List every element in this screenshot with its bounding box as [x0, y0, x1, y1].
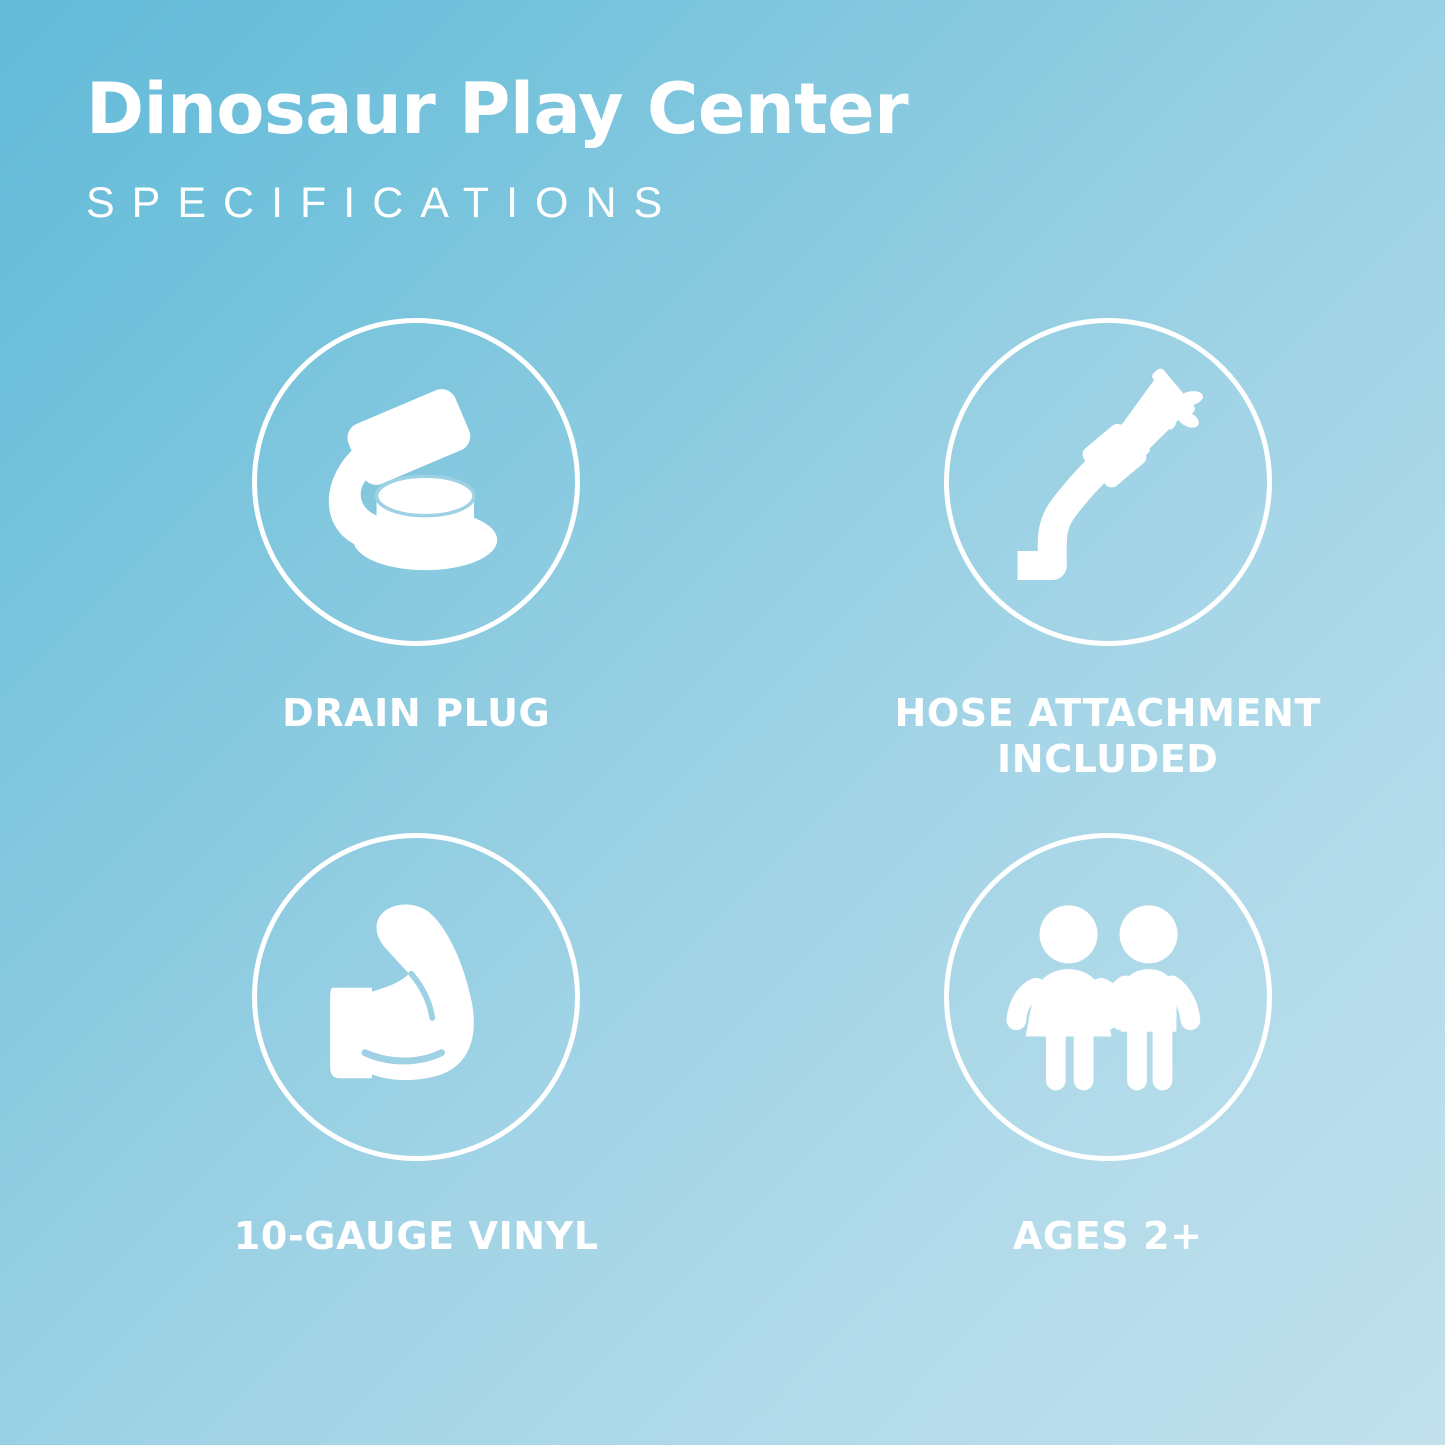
icon-circle-age-range: [944, 833, 1272, 1161]
hose-nozzle-icon: [992, 366, 1224, 598]
spec-label-drain-plug: DRAIN PLUG: [282, 646, 550, 736]
flexed-bicep-icon: [300, 881, 532, 1113]
icon-circle-drain-plug: [252, 318, 580, 646]
two-children-icon: [992, 881, 1224, 1113]
page-title: Dinosaur Play Center: [86, 74, 1366, 144]
spec-label-hose-attachment: HOSE ATTACHMENT INCLUDED: [895, 646, 1321, 783]
spec-item-drain-plug: DRAIN PLUG: [0, 318, 723, 833]
spec-label-vinyl-gauge: 10-GAUGE VINYL: [234, 1161, 599, 1259]
drain-plug-icon: [300, 366, 532, 598]
specifications-infographic: Dinosaur Play Center SPECIFICATIONS: [0, 0, 1445, 1445]
spec-item-vinyl-gauge: 10-GAUGE VINYL: [0, 833, 723, 1348]
spec-grid: DRAIN PLUG: [0, 318, 1445, 1348]
icon-circle-hose-attachment: [944, 318, 1272, 646]
spec-item-hose-attachment: HOSE ATTACHMENT INCLUDED: [723, 318, 1445, 833]
page-subtitle: SPECIFICATIONS: [86, 144, 1366, 225]
icon-circle-vinyl-gauge: [252, 833, 580, 1161]
header: Dinosaur Play Center SPECIFICATIONS: [86, 74, 1366, 225]
spec-label-age-range: AGES 2+: [1013, 1161, 1203, 1259]
spec-item-age-range: AGES 2+: [723, 833, 1445, 1348]
